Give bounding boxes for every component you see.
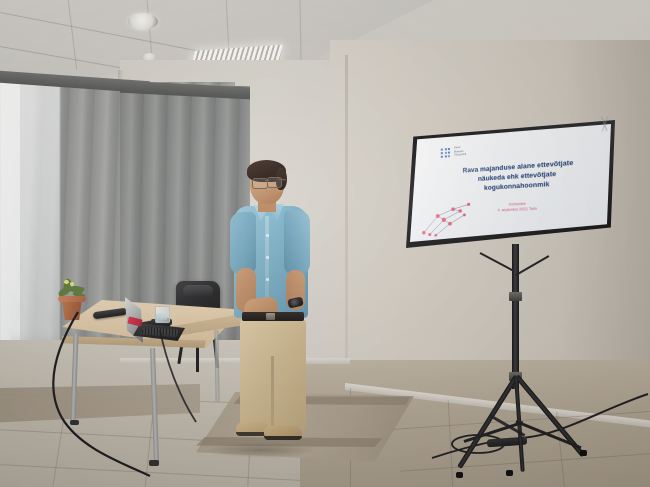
tripod-foot [580, 450, 587, 456]
shirt-button [266, 278, 269, 281]
tripod-support-arm [480, 252, 514, 272]
shirt-button [266, 234, 269, 237]
shirt-sleeve [284, 210, 310, 274]
tripod-support-arm [516, 255, 550, 276]
downlight-icon [128, 13, 158, 30]
tripod-leg [457, 375, 518, 469]
tv-tripod-stand [440, 244, 605, 484]
tv-display[interactable]: Eesti Maaelu Võrgustik Rava majanduse al… [406, 120, 615, 248]
tripod-clamp[interactable] [509, 292, 522, 301]
presenter [214, 160, 324, 450]
tripod-foot [506, 470, 513, 476]
screen-glare [410, 124, 611, 242]
shirt-sleeve [230, 212, 256, 274]
shoe-sole [264, 436, 302, 440]
plant-flower [64, 280, 69, 284]
trouser-crease [271, 356, 274, 432]
plant-flower [70, 282, 74, 286]
shirt-button [266, 256, 269, 259]
tripod-foot [456, 472, 463, 478]
tripod-spreader [515, 420, 581, 449]
belt-buckle [266, 313, 275, 320]
glasses-bridge [265, 180, 269, 181]
tripod-column [512, 244, 519, 389]
room-photo-scene: Eesti Maaelu Võrgustik Rava majanduse al… [0, 0, 650, 487]
